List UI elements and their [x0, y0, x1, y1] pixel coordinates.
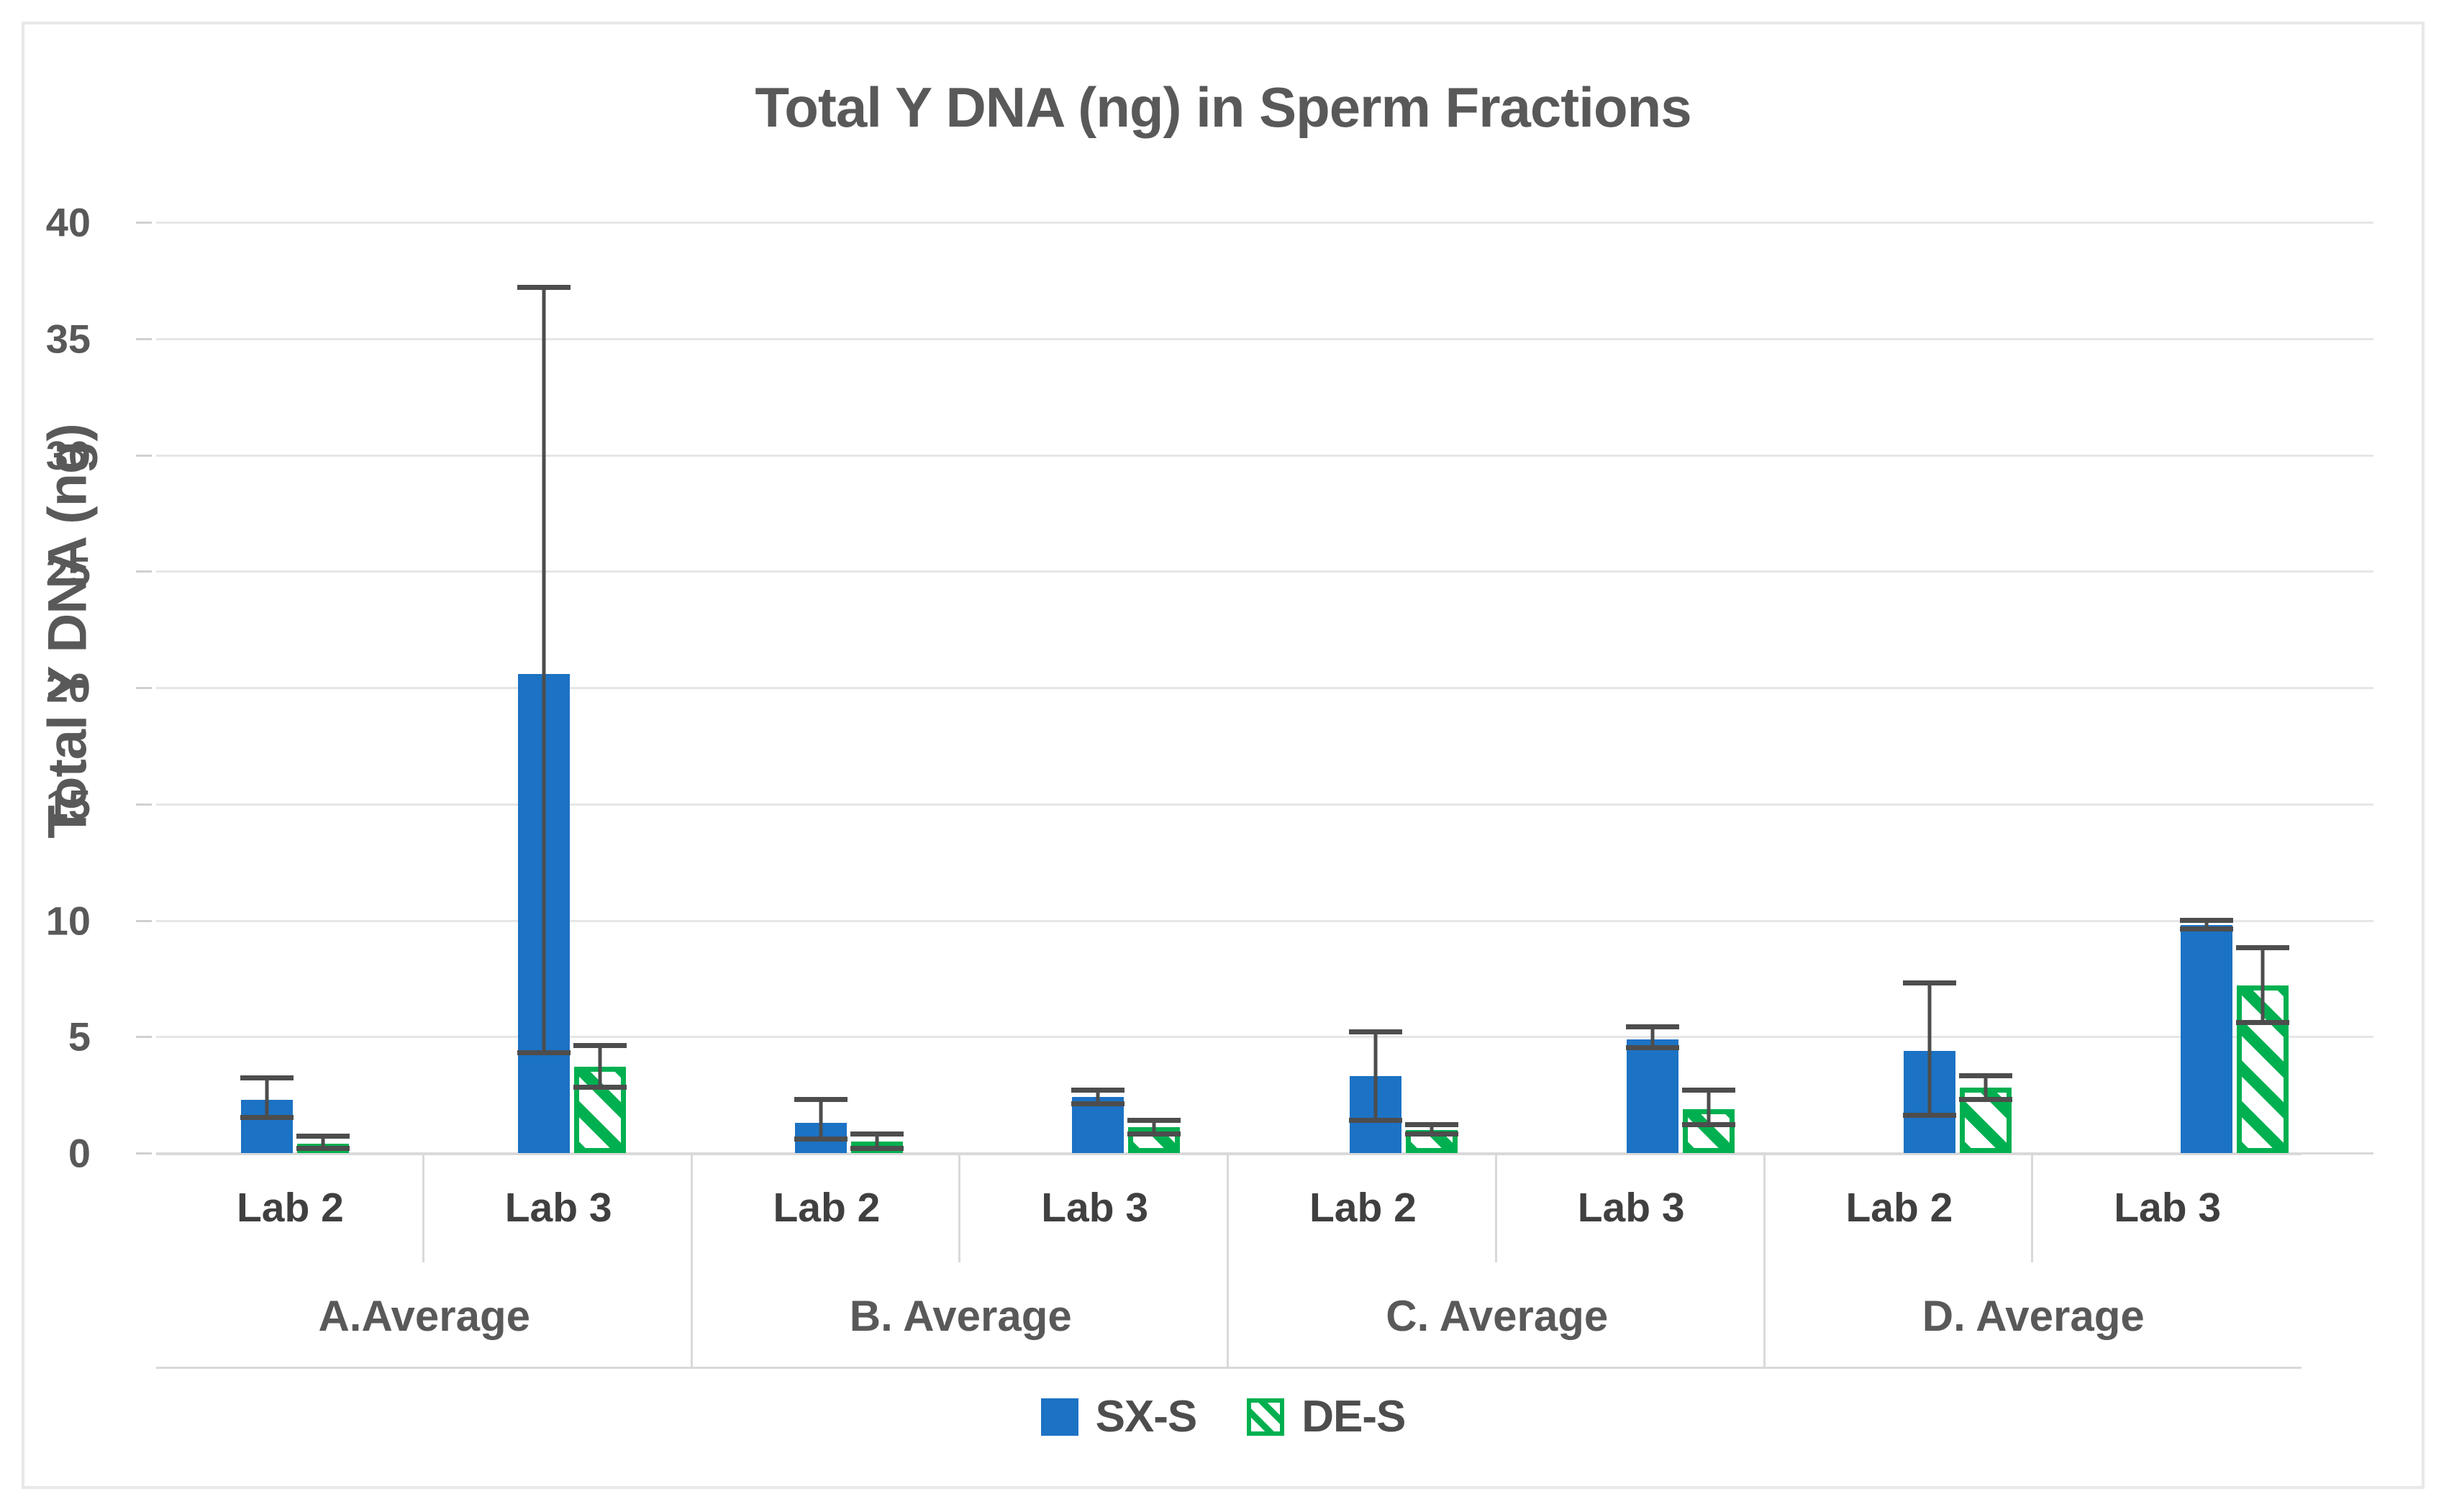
error-bar-cap-upper [1127, 1118, 1181, 1123]
error-bar-cap-lower [1626, 1045, 1679, 1050]
chart-title: Total Y DNA (ng) in Sperm Fractions [24, 75, 2422, 140]
y-tick-label: 10 [0, 897, 91, 944]
error-bar-cap-lower [794, 1137, 848, 1142]
y-tick-mark [136, 1152, 152, 1155]
error-bar-cap-upper [2180, 918, 2233, 923]
y-tick-label: 25 [0, 548, 91, 595]
error-bar-cap-lower [2236, 1020, 2289, 1025]
error-bar-cap-lower [1071, 1101, 1124, 1106]
error-bar-cap-upper [517, 285, 571, 290]
error-bar-stem [2261, 948, 2265, 1023]
error-bar-cap-upper [296, 1134, 350, 1139]
error-bar-cap-lower [1349, 1118, 1402, 1123]
bars-layer [156, 222, 2373, 1153]
plot-area: 4035302520151050 [136, 222, 2373, 1153]
y-tick-label: 15 [0, 780, 91, 827]
error-bar-cap-upper [573, 1043, 627, 1048]
subgroup-label: Lab 2 [156, 1153, 424, 1262]
subgroup-label: Lab 2 [1766, 1153, 2034, 1262]
error-bar-cap-lower [1127, 1131, 1181, 1137]
subgroup-label: Lab 2 [693, 1153, 961, 1262]
category-axis: Lab 2Lab 3Lab 2Lab 3Lab 2Lab 3Lab 2Lab 3… [156, 1153, 2302, 1369]
subgroup-label: Lab 2 [1229, 1153, 1497, 1262]
y-tick-mark [136, 338, 152, 340]
error-bar-cap-lower [850, 1146, 904, 1151]
legend-label: DE-S [1301, 1391, 1405, 1442]
error-bar-cap-upper [1682, 1088, 1735, 1093]
y-tick-mark [136, 803, 152, 806]
error-bar-cap-upper [850, 1131, 904, 1137]
y-tick-label: 30 [0, 432, 91, 478]
error-bar-cap-lower [1405, 1131, 1458, 1137]
bar-slot [988, 222, 1265, 1153]
error-bar-cap-upper [240, 1075, 294, 1080]
y-axis-title: Total Y DNA (ng) [37, 344, 99, 919]
hatched-green-swatch [1247, 1398, 1284, 1436]
bar-slot [433, 222, 710, 1153]
chart-legend: SX-SDE-S [24, 1391, 2422, 1442]
bar-slot [156, 222, 433, 1153]
group-label: C. Average [1229, 1262, 1766, 1369]
error-bar-cap-lower [296, 1146, 350, 1151]
error-bar-stem [265, 1079, 268, 1119]
error-bar-stem [1373, 1032, 1377, 1121]
bar-slot [711, 222, 988, 1153]
error-bar-cap-lower [2180, 926, 2233, 932]
y-tick-label: 40 [0, 199, 91, 246]
y-tick-label: 35 [0, 315, 91, 362]
y-tick-label: 20 [0, 665, 91, 711]
error-bar-cap-upper [794, 1097, 848, 1102]
chart-frame: Total Y DNA (ng) in Sperm Fractions Tota… [22, 22, 2425, 1489]
group-label: A.Average [156, 1262, 693, 1369]
error-bar-cap-lower [1959, 1097, 2012, 1102]
error-bar-cap-lower [517, 1050, 571, 1055]
bar-sx-s[interactable] [2181, 925, 2232, 1153]
legend-item-de-s[interactable]: DE-S [1247, 1391, 1405, 1442]
bar-sx-s[interactable] [1627, 1039, 1678, 1154]
error-bar-cap-lower [1903, 1113, 1956, 1118]
y-tick-mark [136, 455, 152, 457]
error-bar-stem [542, 288, 545, 1053]
error-bar-cap-lower [573, 1085, 627, 1090]
y-tick-label: 0 [0, 1130, 91, 1177]
error-bar-stem [598, 1046, 601, 1088]
bar-slot [1265, 222, 1542, 1153]
y-tick-mark [136, 687, 152, 689]
bar-slot [2096, 222, 2373, 1153]
y-tick-mark [136, 570, 152, 573]
solid-blue-swatch [1041, 1398, 1078, 1436]
error-bar-stem [1707, 1090, 1710, 1126]
error-bar-cap-lower [240, 1115, 294, 1120]
y-tick-mark [136, 1036, 152, 1038]
legend-item-sx-s[interactable]: SX-S [1041, 1391, 1197, 1442]
error-bar-cap-upper [1959, 1073, 2012, 1078]
group-label: B. Average [693, 1262, 1230, 1369]
subgroup-label: Lab 3 [1497, 1153, 1766, 1262]
subgroup-label: Lab 3 [424, 1153, 693, 1262]
error-bar-cap-upper [2236, 945, 2289, 950]
subgroup-label: Lab 3 [960, 1153, 1229, 1262]
y-tick-mark [136, 222, 152, 224]
error-bar-cap-lower [1682, 1122, 1735, 1127]
error-bar-cap-upper [1405, 1122, 1458, 1127]
error-bar-cap-upper [1626, 1024, 1679, 1029]
y-tick-label: 5 [0, 1014, 91, 1060]
bar-slot [1819, 222, 2096, 1153]
error-bar-stem [1928, 983, 1932, 1116]
y-tick-mark [136, 920, 152, 922]
group-label: D. Average [1766, 1262, 2302, 1369]
legend-label: SX-S [1096, 1391, 1197, 1442]
subgroup-label-row: Lab 2Lab 3Lab 2Lab 3Lab 2Lab 3Lab 2Lab 3 [156, 1153, 2302, 1262]
group-label-row: A.AverageB. AverageC. AverageD. Average [156, 1262, 2302, 1369]
error-bar-cap-upper [1903, 980, 1956, 985]
subgroup-label: Lab 3 [2033, 1153, 2302, 1262]
bar-slot [1542, 222, 1819, 1153]
error-bar-cap-upper [1349, 1029, 1402, 1034]
error-bar-cap-upper [1071, 1088, 1124, 1093]
error-bar-stem [819, 1100, 823, 1139]
